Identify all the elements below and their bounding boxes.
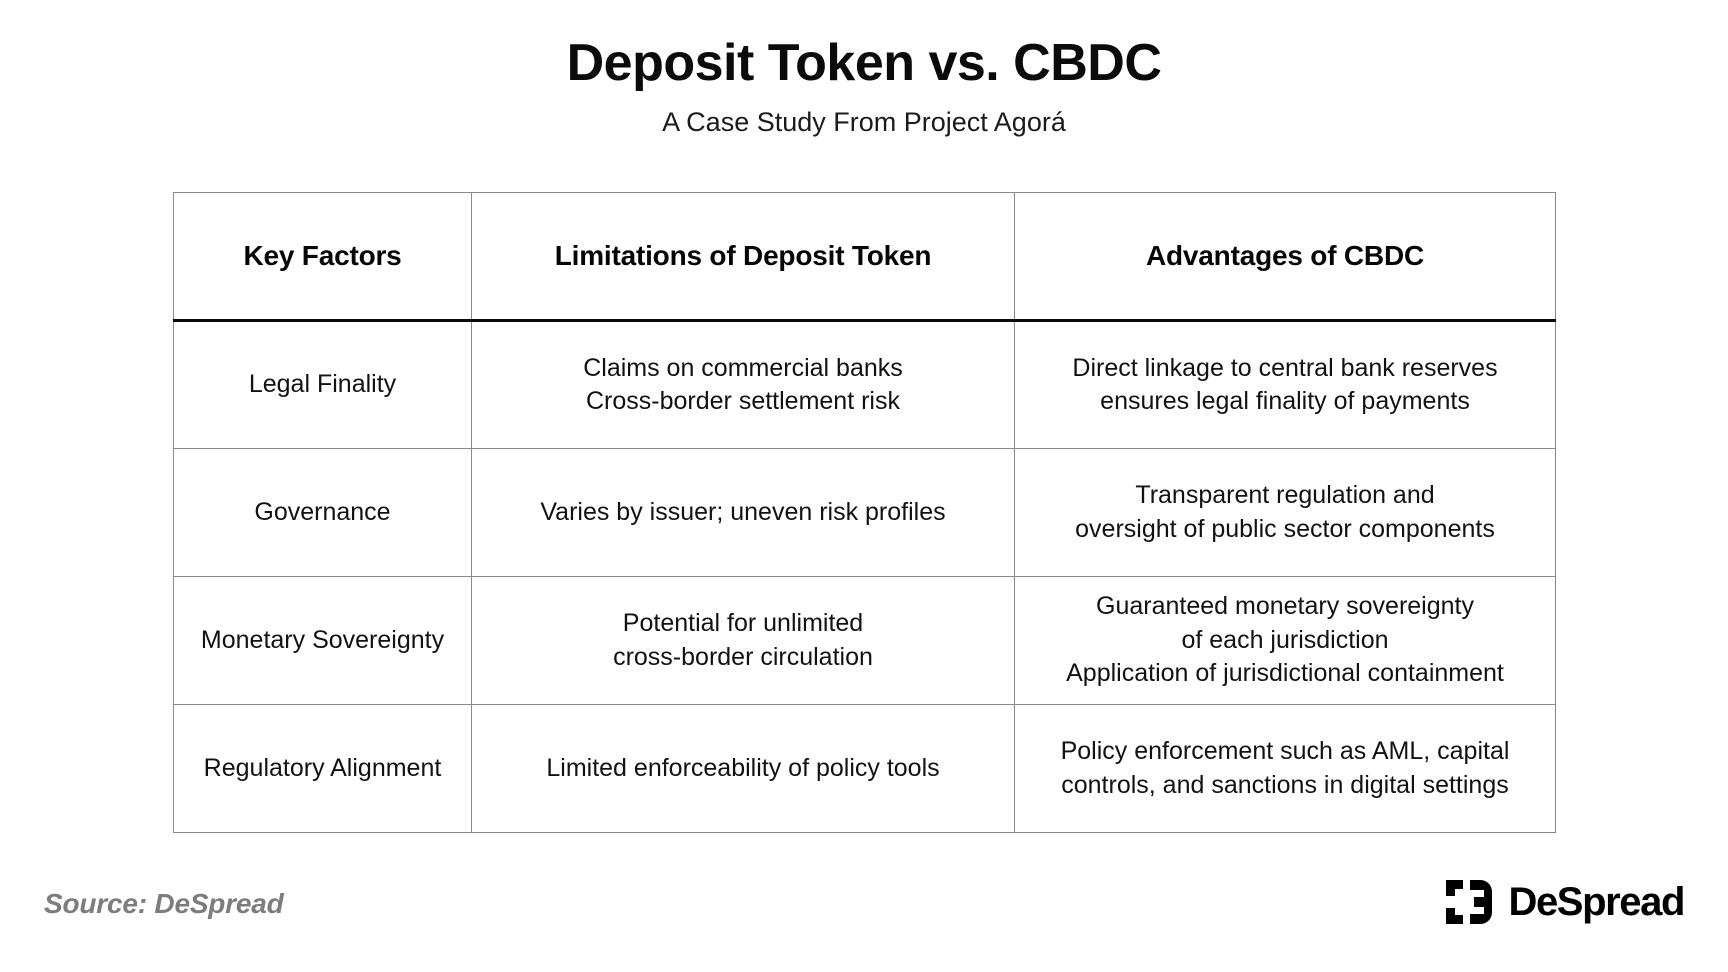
column-header-key-factors: Key Factors: [174, 193, 472, 321]
cell-line: Policy enforcement such as AML, capital: [1029, 735, 1541, 769]
cell-limitations: Claims on commercial banks Cross-border …: [472, 321, 1015, 449]
table-row: Governance Varies by issuer; uneven risk…: [174, 449, 1556, 577]
brand-lockup: DeSpread: [1446, 880, 1684, 924]
column-header-limitations: Limitations of Deposit Token: [472, 193, 1015, 321]
cell-advantages: Transparent regulation and oversight of …: [1015, 449, 1556, 577]
cell-line: of each jurisdiction: [1029, 624, 1541, 658]
cell-line: Claims on commercial banks: [486, 352, 1000, 386]
cell-line: Potential for unlimited: [486, 607, 1000, 641]
table-row: Legal Finality Claims on commercial bank…: [174, 321, 1556, 449]
table-row: Monetary Sovereignty Potential for unlim…: [174, 577, 1556, 705]
comparison-table: Key Factors Limitations of Deposit Token…: [173, 192, 1556, 833]
footer: Source: DeSpread DeSpread: [0, 880, 1728, 972]
cell-line: Cross-border settlement risk: [486, 385, 1000, 419]
cell-line: Transparent regulation and: [1029, 479, 1541, 513]
cell-line: Application of jurisdictional containmen…: [1029, 657, 1541, 691]
column-header-advantages: Advantages of CBDC: [1015, 193, 1556, 321]
cell-advantages: Guaranteed monetary sovereignty of each …: [1015, 577, 1556, 705]
table-header-row: Key Factors Limitations of Deposit Token…: [174, 193, 1556, 321]
cell-line: Direct linkage to central bank reserves: [1029, 352, 1541, 386]
table-body: Legal Finality Claims on commercial bank…: [174, 321, 1556, 833]
header: Deposit Token vs. CBDC A Case Study From…: [0, 0, 1728, 139]
cell-line: cross-border circulation: [486, 641, 1000, 675]
cell-limitations: Limited enforceability of policy tools: [472, 705, 1015, 833]
cell-line: controls, and sanctions in digital setti…: [1029, 769, 1541, 803]
infographic-page: Deposit Token vs. CBDC A Case Study From…: [0, 0, 1728, 972]
cell-advantages: Policy enforcement such as AML, capital …: [1015, 705, 1556, 833]
brand-name: DeSpread: [1508, 882, 1684, 922]
cell-key-factor: Regulatory Alignment: [174, 705, 472, 833]
table-header: Key Factors Limitations of Deposit Token…: [174, 193, 1556, 321]
cell-limitations: Varies by issuer; uneven risk profiles: [472, 449, 1015, 577]
cell-line: Limited enforceability of policy tools: [486, 752, 1000, 786]
source-attribution: Source: DeSpread: [44, 888, 284, 920]
cell-line: oversight of public sector components: [1029, 513, 1541, 547]
despread-logo-icon: [1446, 880, 1492, 924]
cell-line: ensures legal finality of payments: [1029, 385, 1541, 419]
page-subtitle: A Case Study From Project Agorá: [0, 106, 1728, 138]
cell-key-factor: Legal Finality: [174, 321, 472, 449]
page-title: Deposit Token vs. CBDC: [0, 34, 1728, 92]
cell-advantages: Direct linkage to central bank reserves …: [1015, 321, 1556, 449]
cell-key-factor: Monetary Sovereignty: [174, 577, 472, 705]
cell-key-factor: Governance: [174, 449, 472, 577]
table-row: Regulatory Alignment Limited enforceabil…: [174, 705, 1556, 833]
cell-line: Guaranteed monetary sovereignty: [1029, 590, 1541, 624]
cell-line: Varies by issuer; uneven risk profiles: [486, 496, 1000, 530]
comparison-table-container: Key Factors Limitations of Deposit Token…: [173, 192, 1555, 833]
cell-limitations: Potential for unlimited cross-border cir…: [472, 577, 1015, 705]
